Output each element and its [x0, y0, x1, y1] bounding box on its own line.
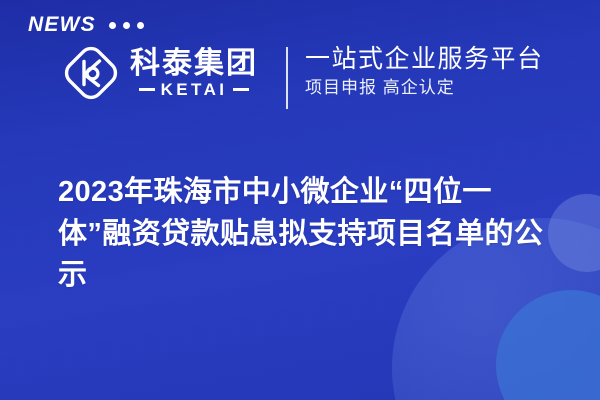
kicker-dots-icon: [109, 22, 144, 29]
news-kicker-label: NEWS: [28, 14, 96, 35]
wordmark-dash-right-icon: [233, 88, 249, 91]
news-banner-card: NEWS 科泰集团: [0, 0, 600, 400]
brand-name-en: KETAI: [161, 81, 228, 98]
tagline-block: 一站式企业服务平台 项目申报 高企认定: [305, 44, 544, 98]
brand-wordmark: 科泰集团 KETAI: [130, 48, 258, 99]
tagline-secondary: 项目申报 高企认定: [305, 78, 544, 98]
brand-logo: 科泰集团 KETAI: [62, 44, 258, 102]
wordmark-dash-left-icon: [139, 88, 155, 91]
news-kicker: NEWS: [28, 14, 144, 35]
ketai-diamond-k-logo-icon: [62, 44, 120, 102]
kicker-dot-icon: [137, 22, 144, 29]
vertical-divider: [286, 47, 288, 109]
banner-content: NEWS 科泰集团: [0, 0, 600, 400]
brand-name-cn: 科泰集团: [130, 48, 258, 80]
page-title: 2023年珠海市中小微企业“四位一体”融资贷款贴息拟支持项目名单的公示: [58, 172, 560, 296]
brand-name-en-row: KETAI: [130, 81, 258, 98]
kicker-dot-icon: [123, 22, 130, 29]
tagline-primary: 一站式企业服务平台: [305, 44, 544, 74]
kicker-dot-icon: [109, 22, 116, 29]
